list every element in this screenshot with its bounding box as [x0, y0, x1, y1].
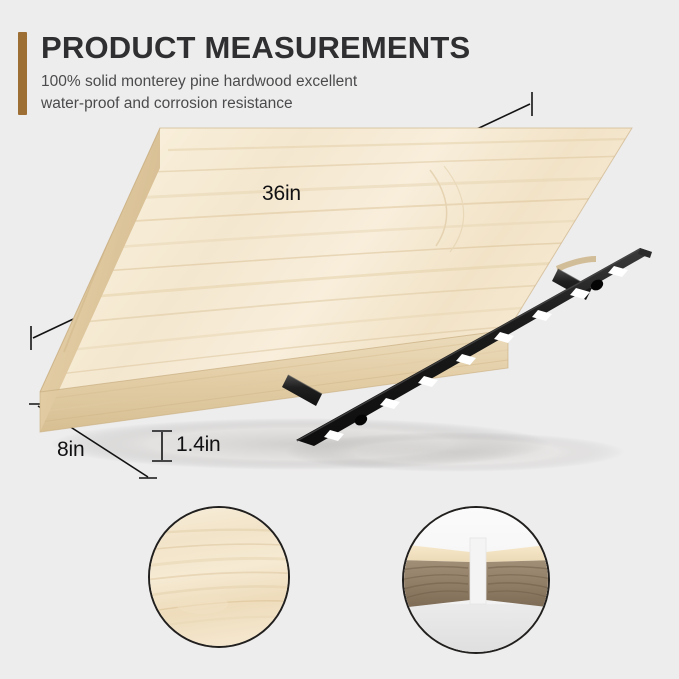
dimension-label-thickness: 1.4in	[176, 433, 221, 457]
routed-slot-right	[556, 256, 596, 272]
page-title: PRODUCT MEASUREMENTS	[41, 32, 470, 65]
inset-wood-surface-closeup	[148, 506, 290, 648]
mounting-bracket	[282, 248, 652, 446]
plank-edge-art	[404, 508, 550, 654]
page-subtitle: 100% solid monterey pine hardwood excell…	[41, 71, 470, 115]
shelf-shadow	[50, 418, 550, 470]
dimension-line-depth	[29, 404, 157, 478]
bracket-arm-right	[552, 269, 592, 300]
bracket-arm-left	[282, 375, 322, 406]
dimension-line-thickness	[152, 431, 172, 461]
accent-bar	[18, 32, 27, 115]
bracket-slots	[324, 266, 628, 441]
header-text-group: PRODUCT MEASUREMENTS 100% solid monterey…	[41, 32, 470, 115]
dimension-line-length	[31, 92, 532, 350]
shelf-plank	[40, 128, 632, 432]
bracket-keyholes	[353, 277, 605, 427]
dimension-label-depth: 8in	[57, 438, 84, 462]
subtitle-line-2: water-proof and corrosion resistance	[41, 93, 470, 115]
infographic-canvas: PRODUCT MEASUREMENTS 100% solid monterey…	[0, 0, 679, 679]
wood-surface-art	[150, 508, 290, 648]
bracket-shadow	[285, 432, 625, 472]
header: PRODUCT MEASUREMENTS 100% solid monterey…	[18, 32, 618, 115]
inset-plank-edge-closeup	[402, 506, 550, 654]
subtitle-line-1: 100% solid monterey pine hardwood excell…	[41, 71, 470, 93]
dimension-label-length: 36in	[262, 182, 301, 206]
bracket-rail	[296, 248, 652, 446]
routed-slot-left	[286, 362, 330, 378]
